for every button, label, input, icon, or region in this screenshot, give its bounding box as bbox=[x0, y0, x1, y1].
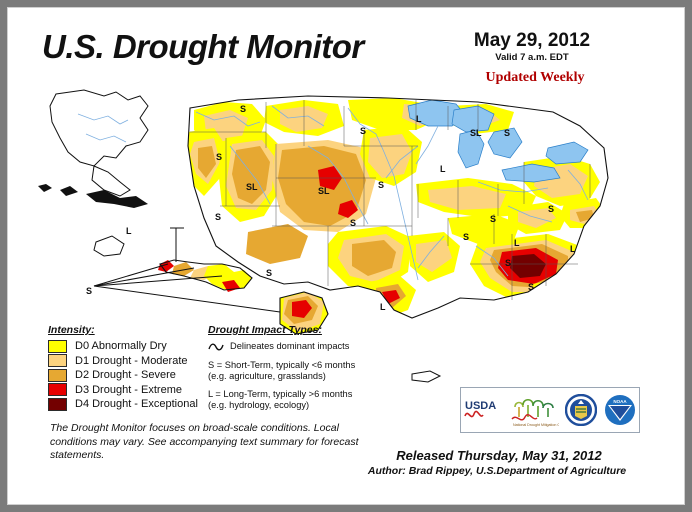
legend-label-d2: D2 Drought - Severe bbox=[75, 369, 176, 381]
squiggle-icon bbox=[208, 342, 224, 352]
map-label: S bbox=[463, 232, 469, 242]
legend-item-d1: D1 Drought - Moderate bbox=[48, 354, 198, 369]
puerto-rico-shape bbox=[408, 366, 448, 386]
swatch-d4 bbox=[48, 398, 67, 411]
valid-date: May 29, 2012 bbox=[446, 30, 618, 52]
page-title: U.S. Drought Monitor bbox=[42, 28, 364, 66]
swatch-d3 bbox=[48, 383, 67, 396]
updated-weekly-note: Updated Weekly bbox=[446, 70, 624, 86]
map-label: S bbox=[350, 218, 356, 228]
national-drought-mitigation-center-logo: National Drought Mitigation Center bbox=[511, 393, 559, 427]
map-label: L bbox=[416, 114, 422, 124]
svg-text:NOAA: NOAA bbox=[613, 399, 627, 404]
map-label: L bbox=[514, 238, 520, 248]
map-label: S bbox=[378, 180, 384, 190]
swatch-d2 bbox=[48, 369, 67, 382]
short-term-line1: S = Short-Term, typically <6 months bbox=[208, 360, 388, 372]
long-term-line2: (e.g. hydrology, ecology) bbox=[208, 400, 388, 412]
map-label: S bbox=[505, 258, 511, 268]
intensity-legend-title: Intensity: bbox=[48, 324, 198, 336]
drought-monitor-sheet: U.S. Drought Monitor May 29, 2012 Valid … bbox=[7, 7, 685, 505]
legend-item-d2: D2 Drought - Severe bbox=[48, 368, 198, 383]
legend-label-d0: D0 Abnormally Dry bbox=[75, 340, 167, 352]
map-label: S bbox=[216, 152, 222, 162]
usda-wordmark-logo: USDA bbox=[464, 394, 504, 426]
svg-text:National Drought Mitigation Ce: National Drought Mitigation Center bbox=[513, 423, 559, 427]
impact-types-title: Drought Impact Types: bbox=[208, 324, 388, 336]
map-label: S bbox=[490, 214, 496, 224]
agency-logos-panel: USDA National Drought Mitigation Center bbox=[460, 387, 640, 433]
valid-time: Valid 7 a.m. EDT bbox=[446, 52, 618, 63]
map-label: S bbox=[548, 204, 554, 214]
short-term-line2: (e.g. agriculture, grasslands) bbox=[208, 371, 388, 383]
legend-item-d3: D3 Drought - Extreme bbox=[48, 383, 198, 398]
map-label: SL bbox=[470, 128, 482, 138]
dominant-impacts-label: Delineates dominant impacts bbox=[230, 341, 349, 353]
swatch-d1 bbox=[48, 354, 67, 367]
legend-label-d4: D4 Drought - Exceptional bbox=[75, 398, 198, 410]
map-label: S bbox=[215, 212, 221, 222]
map-label: S bbox=[266, 268, 272, 278]
swatch-d0 bbox=[48, 340, 67, 353]
usda-seal-logo bbox=[565, 394, 597, 426]
screenshot-frame: U.S. Drought Monitor May 29, 2012 Valid … bbox=[0, 0, 692, 512]
intensity-legend: Intensity: D0 Abnormally Dry D1 Drought … bbox=[48, 324, 198, 412]
impact-types-legend: Drought Impact Types: Delineates dominan… bbox=[208, 324, 388, 412]
map-label: SL bbox=[246, 182, 258, 192]
dominant-impacts-row: Delineates dominant impacts bbox=[208, 341, 388, 353]
map-label: S bbox=[528, 282, 534, 292]
map-graphic: .d0{fill:#ffff00}.d1{fill:#fcd37f}.d2{fi… bbox=[8, 86, 685, 336]
alaska-inset bbox=[38, 90, 148, 208]
map-label: S bbox=[504, 128, 510, 138]
legend-label-d1: D1 Drought - Moderate bbox=[75, 355, 188, 367]
map-label: L bbox=[380, 302, 386, 312]
legend-label-d3: D3 Drought - Extreme bbox=[75, 384, 182, 396]
map-label: L bbox=[126, 226, 132, 236]
author-text: Author: Brad Rippey, U.S.Department of A… bbox=[338, 465, 656, 477]
map-label: S bbox=[86, 286, 92, 296]
release-date-text: Released Thursday, May 31, 2012 bbox=[354, 448, 644, 463]
noaa-logo: NOAA bbox=[604, 394, 636, 426]
map-label: L bbox=[440, 164, 446, 174]
map-label: L bbox=[570, 244, 576, 254]
drought-map[interactable]: .d0{fill:#ffff00}.d1{fill:#fcd37f}.d2{fi… bbox=[8, 86, 685, 336]
legend-item-d0: D0 Abnormally Dry bbox=[48, 339, 198, 354]
long-term-line1: L = Long-Term, typically >6 months bbox=[208, 389, 388, 401]
legend-item-d4: D4 Drought - Exceptional bbox=[48, 397, 198, 412]
map-label: SL bbox=[318, 186, 330, 196]
svg-text:USDA: USDA bbox=[465, 400, 496, 412]
map-label: S bbox=[360, 126, 366, 136]
disclaimer-text: The Drought Monitor focuses on broad-sca… bbox=[50, 422, 370, 463]
map-label: S bbox=[240, 104, 246, 114]
